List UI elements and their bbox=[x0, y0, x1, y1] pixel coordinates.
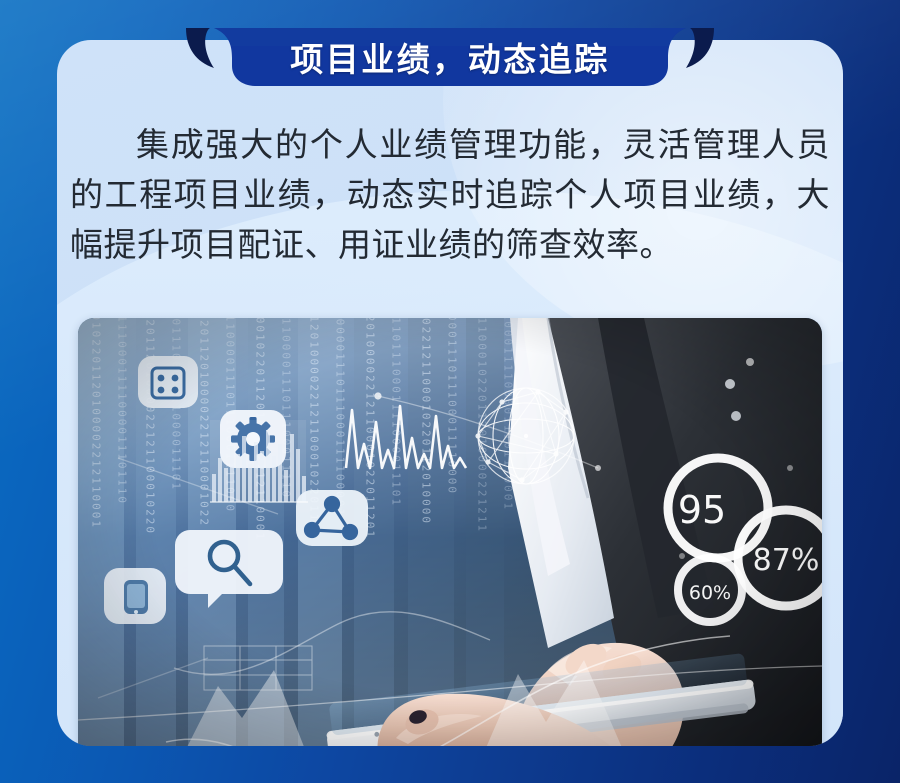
poster-root: 0110201120100002212110001022011201000022… bbox=[0, 0, 900, 783]
hero-photo: 0110201120100002212110001022011201000022… bbox=[78, 318, 822, 746]
poster-title: 项目业绩，动态追踪 bbox=[0, 28, 900, 86]
body-paragraph: 集成强大的个人业绩管理功能，灵活管理人员的工程项目业绩，动态实时追踪个人项目业绩… bbox=[70, 120, 830, 270]
